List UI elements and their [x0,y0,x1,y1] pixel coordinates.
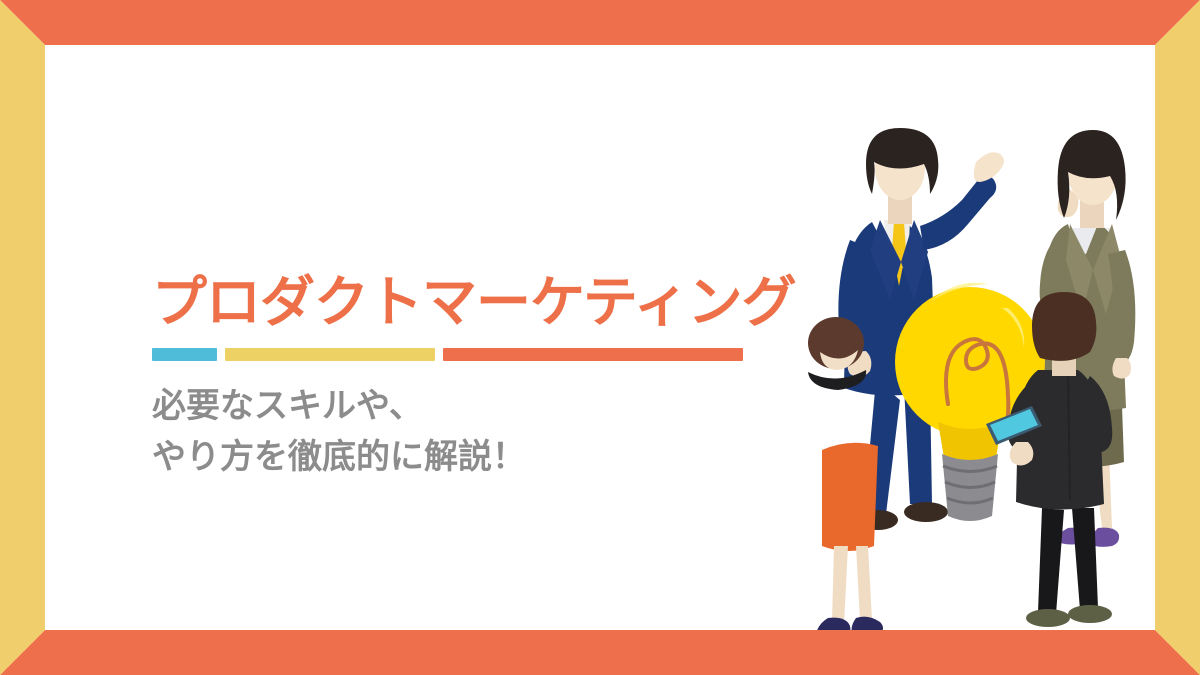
page-title: プロダクトマーケティング [152,273,772,332]
divider-segment-yellow [225,348,435,361]
divider-segment-orange [443,348,743,361]
headline-block: プロダクトマーケティング 必要なスキルや、 やり方を徹底的に解説！ [152,273,772,483]
frame-band-bottom [0,630,1200,675]
bulb-screw-base [942,454,998,521]
slide-root: プロダクトマーケティング 必要なスキルや、 やり方を徹底的に解説！ [0,0,1200,675]
frame-band-left [0,0,45,675]
slide-canvas: プロダクトマーケティング 必要なスキルや、 やり方を徹底的に解説！ [45,45,1155,630]
subtitle-line-1: 必要なスキルや、 [152,381,772,432]
page-subtitle: 必要なスキルや、 やり方を徹底的に解説！ [152,381,772,483]
business-team-lightbulb-illustration [780,100,1180,630]
divider-bar [152,348,772,361]
frame-band-top [0,0,1200,45]
subtitle-line-2: やり方を徹底的に解説！ [152,432,772,483]
divider-segment-cyan [152,348,217,361]
